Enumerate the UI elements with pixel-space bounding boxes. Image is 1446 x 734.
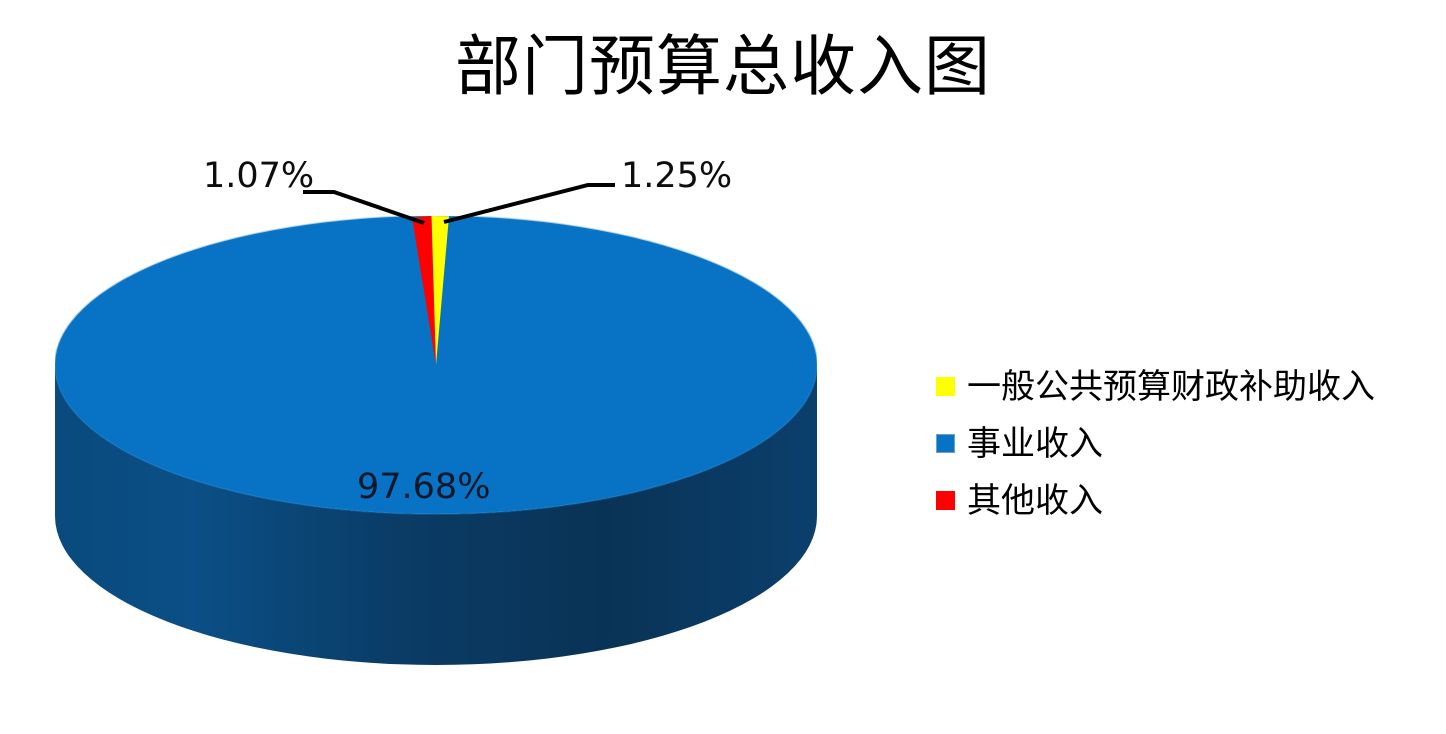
legend-swatch-general-icon — [936, 377, 955, 396]
legend-item-general[interactable]: 一般公共预算财政补助收入 — [936, 358, 1436, 415]
data-label-other: 1.07% — [203, 157, 314, 195]
chart-legend: 一般公共预算财政补助收入 事业收入 其他收入 — [936, 358, 1436, 529]
pie-chart-graphic — [55, 216, 817, 676]
data-label-general: 1.25% — [621, 157, 732, 195]
legend-label-other: 其他收入 — [967, 481, 1103, 521]
chart-canvas: 部门预算总收入图 — [0, 0, 1446, 734]
legend-swatch-other-icon — [936, 491, 955, 510]
legend-swatch-business-icon — [936, 434, 955, 453]
page-title: 部门预算总收入图 — [0, 26, 1446, 108]
legend-label-business: 事业收入 — [967, 424, 1103, 464]
legend-item-other[interactable]: 其他收入 — [936, 472, 1436, 529]
pie-svg — [55, 216, 817, 676]
legend-label-general: 一般公共预算财政补助收入 — [967, 367, 1375, 407]
data-label-business: 97.68% — [357, 468, 490, 506]
legend-item-business[interactable]: 事业收入 — [936, 415, 1436, 472]
